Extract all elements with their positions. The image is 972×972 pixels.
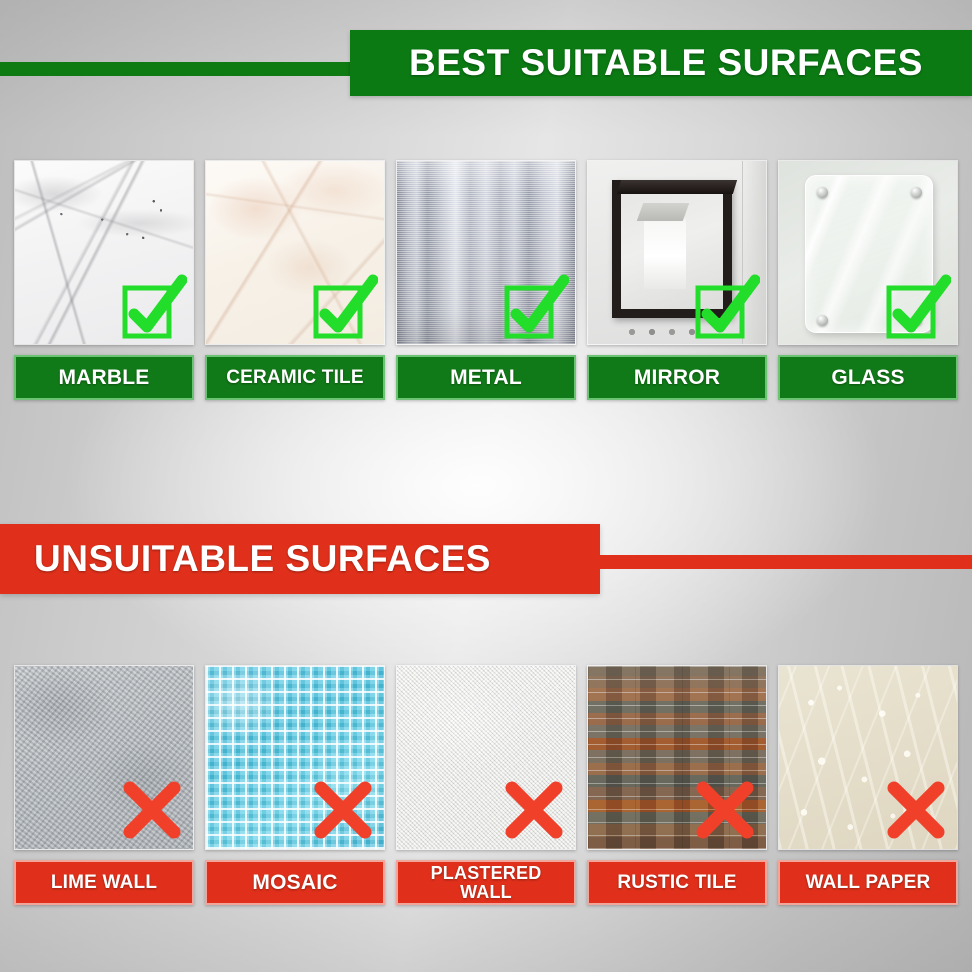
surface-image-wall-paper [778,665,958,850]
surface-image-mosaic [205,665,385,850]
best-suitable-row: MARBLE CERAMIC TILE METAL [14,160,958,400]
surface-label-plastered-wall: PLASTERED WALL [396,860,576,905]
surface-image-marble [14,160,194,345]
surface-image-lime-wall [14,665,194,850]
surface-image-metal [396,160,576,345]
bathroom-fixtures [626,326,698,338]
red-accent-rule [598,555,972,569]
glass-stud-top-left [817,187,828,198]
surface-label-ceramic-tile: CERAMIC TILE [205,355,385,400]
surface-card-glass[interactable]: GLASS [778,160,958,400]
surface-label-marble: MARBLE [14,355,194,400]
glass-stud-bottom-left [817,315,828,326]
cross-icon [694,779,756,841]
surface-label-mosaic: MOSAIC [205,860,385,905]
unsuitable-heading-text: UNSUITABLE SURFACES [34,538,491,580]
surface-label-mirror: MIRROR [587,355,767,400]
surface-card-rustic-tile[interactable]: RUSTIC TILE [587,665,767,905]
surface-card-lime-wall[interactable]: LIME WALL [14,665,194,905]
unsuitable-heading-banner: UNSUITABLE SURFACES [0,524,600,594]
cross-icon [885,779,947,841]
surface-card-ceramic-tile[interactable]: CERAMIC TILE [205,160,385,400]
check-icon [121,274,187,340]
surface-image-ceramic-tile [205,160,385,345]
check-icon [312,274,378,340]
surface-card-wall-paper[interactable]: WALL PAPER [778,665,958,905]
surface-card-mosaic[interactable]: MOSAIC [205,665,385,905]
mirror-frame-top [617,180,737,194]
check-icon [885,274,951,340]
cross-icon [503,779,565,841]
mirror-shelf-reflection [637,203,690,221]
surface-label-lime-wall: LIME WALL [14,860,194,905]
infographic-page: BEST SUITABLE SURFACES MARBLE [0,0,972,972]
surface-label-rustic-tile: RUSTIC TILE [587,860,767,905]
check-icon [503,274,569,340]
cross-icon [121,779,183,841]
unsuitable-row: LIME WALL MOSAIC PLASTERED [14,665,958,905]
surface-label-wall-paper: WALL PAPER [778,860,958,905]
plastered-wall-line-1: PLASTERED [431,863,542,883]
surface-card-marble[interactable]: MARBLE [14,160,194,400]
surface-card-metal[interactable]: METAL [396,160,576,400]
surface-label-metal: METAL [396,355,576,400]
surface-image-glass [778,160,958,345]
best-suitable-heading-banner: BEST SUITABLE SURFACES [350,30,972,96]
surface-image-rustic-tile [587,665,767,850]
check-icon [694,274,760,340]
best-suitable-heading-text: BEST SUITABLE SURFACES [399,42,923,84]
glass-stud-top-right [911,187,922,198]
green-accent-rule [0,62,352,76]
surface-image-mirror [587,160,767,345]
surface-label-glass: GLASS [778,355,958,400]
surface-image-plastered-wall [396,665,576,850]
surface-card-plastered-wall[interactable]: PLASTERED WALL [396,665,576,905]
cross-icon [312,779,374,841]
surface-card-mirror[interactable]: MIRROR [587,160,767,400]
plastered-wall-line-2: WALL [460,882,512,902]
